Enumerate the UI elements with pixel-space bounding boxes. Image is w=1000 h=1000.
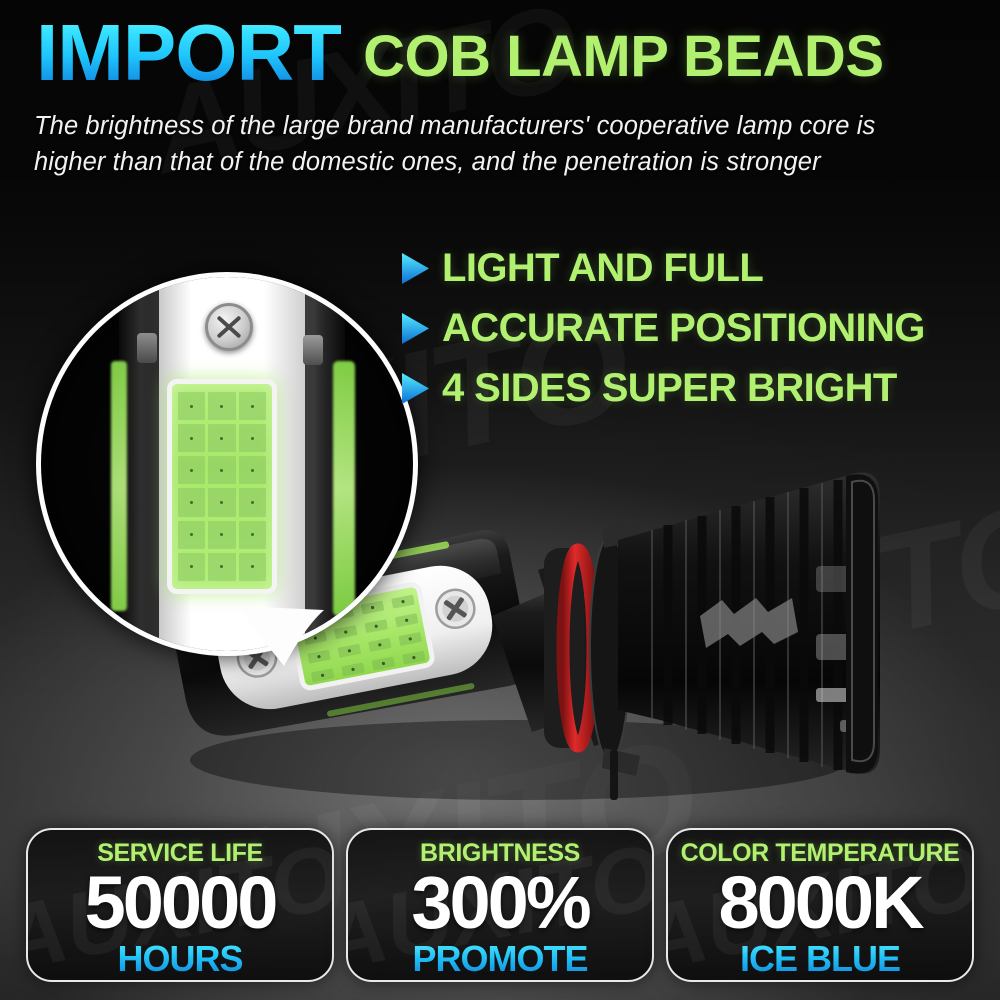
cob-chip [239, 488, 266, 516]
cob-chip [239, 392, 266, 420]
triangle-right-icon [402, 313, 428, 343]
stat-value: 300% [411, 866, 588, 940]
title-secondary: COB LAMP BEADS [363, 28, 883, 86]
feature-item: LIGHT AND FULL [402, 240, 925, 295]
cob-chip [239, 521, 266, 549]
cob-chip [239, 424, 266, 452]
feature-label: ACCURATE POSITIONING [442, 308, 925, 348]
bulb-clip-right [303, 335, 323, 365]
cob-chip [178, 392, 205, 420]
stat-value: 8000K [718, 866, 921, 940]
feature-label: LIGHT AND FULL [442, 248, 763, 288]
cob-chip [178, 488, 205, 516]
phillips-screw-icon [205, 303, 253, 351]
cob-chip [178, 553, 205, 581]
stat-sublabel: PROMOTE [412, 940, 587, 978]
stat-value: 50000 [85, 866, 276, 940]
cob-chip [208, 521, 235, 549]
magnifier-callout [36, 272, 418, 656]
stat-card-service-life[interactable]: AUXITO SERVICE LIFE 50000 HOURS [26, 828, 334, 982]
stat-card-color-temperature[interactable]: AUXITO COLOR TEMPERATURE 8000K ICE BLUE [666, 828, 974, 982]
page-title: IMPORT COB LAMP BEADS [36, 16, 884, 90]
cob-chip-grid [178, 392, 266, 581]
magnifier-lens [36, 272, 418, 656]
cob-chip [239, 456, 266, 484]
stat-sublabel: HOURS [117, 940, 242, 978]
stat-sublabel: ICE BLUE [740, 940, 900, 978]
cob-chip [208, 392, 235, 420]
stat-card-list: AUXITO SERVICE LIFE 50000 HOURS AUXITO B… [0, 828, 1000, 986]
callout-pointer [232, 604, 328, 668]
feature-item: 4 SIDES SUPER BRIGHT [402, 360, 925, 415]
cob-chip [178, 521, 205, 549]
cob-chip [208, 456, 235, 484]
title-primary: IMPORT [36, 16, 341, 90]
cob-chip [178, 456, 205, 484]
cob-chip-panel [167, 379, 277, 594]
cob-chip [208, 488, 235, 516]
magnifier-content [41, 277, 413, 651]
feature-item: ACCURATE POSITIONING [402, 300, 925, 355]
cob-chip [178, 424, 205, 452]
cob-chip [208, 553, 235, 581]
feature-label: 4 SIDES SUPER BRIGHT [442, 368, 897, 408]
cob-chip [208, 424, 235, 452]
stat-card-brightness[interactable]: AUXITO BRIGHTNESS 300% PROMOTE [346, 828, 654, 982]
triangle-right-icon [402, 253, 428, 283]
bulb-clip-left [137, 333, 157, 363]
feature-list: LIGHT AND FULL ACCURATE POSITIONING [402, 240, 925, 420]
cob-chip [239, 553, 266, 581]
cob-glow-right [333, 361, 355, 616]
cob-glow-left [111, 361, 127, 611]
triangle-right-icon [402, 373, 428, 403]
product-banner: AUXITO AUXITO AUXITO AUXITO IMPORT COB L… [0, 0, 1000, 1000]
subtitle: The brightness of the large brand manufa… [34, 108, 944, 180]
